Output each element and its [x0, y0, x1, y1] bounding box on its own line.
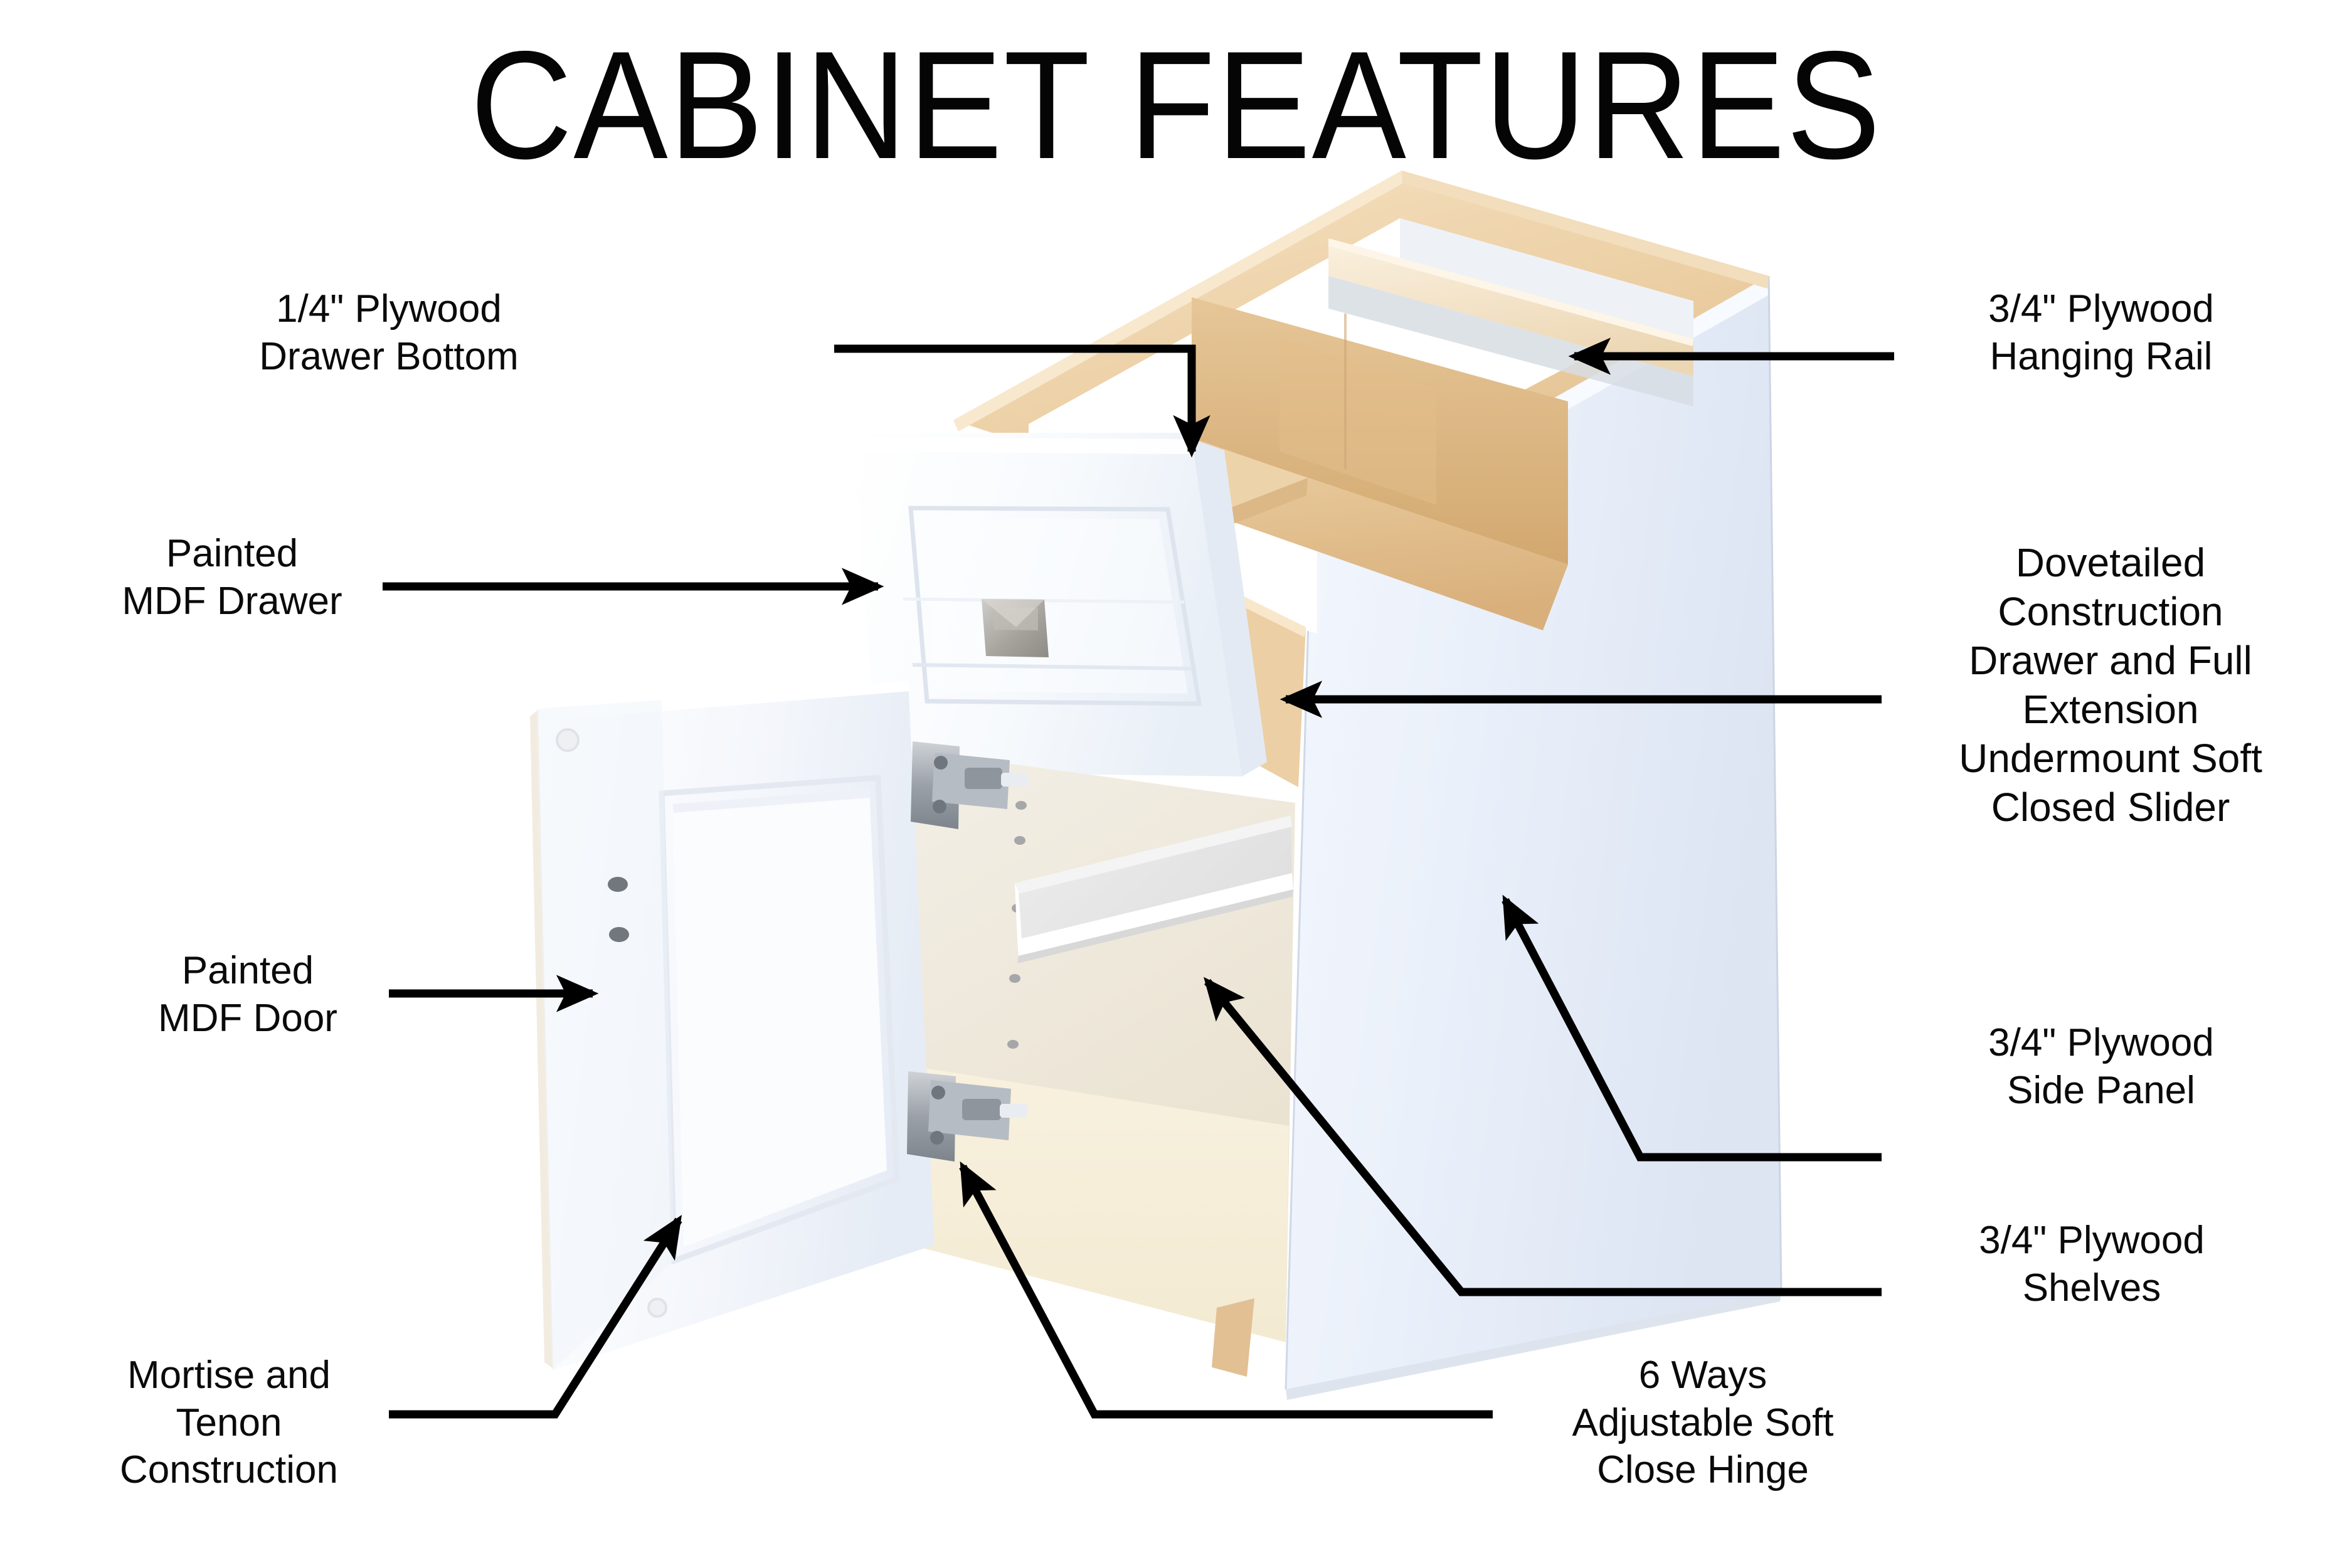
soft-close-hinge-callout: 6 Ways Adjustable Soft Close Hinge: [1502, 1352, 1904, 1494]
drawer-bottom-callout: 1/4" Plywood Drawer Bottom: [198, 285, 580, 380]
cabinet-door: [530, 681, 935, 1370]
poster-canvas: CABINET FEATURES: [0, 0, 2352, 1568]
drawer-knob: [982, 599, 1049, 657]
painted-mdf-drawer-callout: Painted MDF Drawer: [50, 530, 414, 625]
mortise-tenon-callout: Mortise and Tenon Construction: [47, 1352, 411, 1494]
shelves-callout: 3/4" Plywood Shelves: [1888, 1217, 2296, 1311]
painted-mdf-door-callout: Painted MDF Door: [82, 947, 414, 1042]
dovetailed-construction-callout: Dovetailed Construction Drawer and Full …: [1894, 538, 2327, 832]
hanging-rail-callout: 3/4" Plywood Hanging Rail: [1907, 285, 2296, 380]
cabinet-base-edge: [1212, 1298, 1254, 1377]
side-panel-callout: 3/4" Plywood Side Panel: [1907, 1019, 2296, 1114]
drawer-front: [853, 433, 1267, 776]
